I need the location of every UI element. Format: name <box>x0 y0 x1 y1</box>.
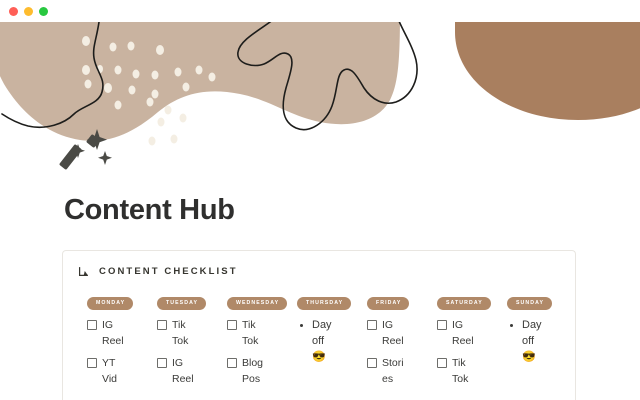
todo-label: YT Vid <box>102 355 125 387</box>
page-cover-image <box>0 22 640 182</box>
todo-label: Tik Tok <box>172 317 195 349</box>
todo-label: IG Reel <box>452 317 475 349</box>
todo-label: IG Reel <box>382 317 405 349</box>
todo-label: IG Reel <box>172 355 195 387</box>
day-badge-monday: MONDAY <box>87 297 133 310</box>
todo-item[interactable]: Tik Tok <box>157 317 195 349</box>
todo-list-saturday: IG Reel Tik Tok <box>437 310 475 387</box>
checkbox-icon[interactable] <box>157 320 167 330</box>
bullet-icon <box>510 324 513 327</box>
day-badge-tuesday: TUESDAY <box>157 297 206 310</box>
todo-item[interactable]: IG Reel <box>367 317 405 349</box>
day-badge-saturday: SATURDAY <box>437 297 491 310</box>
checkbox-icon[interactable] <box>367 358 377 368</box>
arrow-down-right-icon <box>77 265 90 278</box>
checklist-heading: CONTENT CHECKLIST <box>99 266 238 277</box>
bullet-label: Day off 😎 <box>522 317 545 365</box>
checkbox-icon[interactable] <box>367 320 377 330</box>
sparkle-small-right <box>98 151 112 165</box>
checkbox-icon[interactable] <box>157 358 167 368</box>
checklist-header: CONTENT CHECKLIST <box>63 251 575 278</box>
day-column-thursday: THURSDAY Day off 😎 <box>297 291 367 393</box>
todo-label: Blog Pos <box>242 355 265 387</box>
bullet-icon <box>300 324 303 327</box>
day-badge-sunday: SUNDAY <box>507 297 552 310</box>
checkbox-icon[interactable] <box>227 320 237 330</box>
todo-list-wednesday: Tik Tok Blog Pos <box>227 310 265 387</box>
day-column-friday: FRIDAY IG Reel Stories <box>367 291 437 393</box>
todo-item[interactable]: Blog Pos <box>227 355 265 387</box>
bullet-item[interactable]: Day off 😎 <box>507 317 545 365</box>
checkbox-icon[interactable] <box>87 320 97 330</box>
day-column-wednesday: WEDNESDAY Tik Tok Blog Pos <box>227 291 297 393</box>
todo-list-friday: IG Reel Stories <box>367 310 405 387</box>
todo-list-sunday: Day off 😎 <box>507 310 545 365</box>
content-checklist-card: CONTENT CHECKLIST MONDAY IG Reel YT Vid <box>62 250 576 400</box>
bullet-item[interactable]: Day off 😎 <box>297 317 335 365</box>
day-column-saturday: SATURDAY IG Reel Tik Tok <box>437 291 507 393</box>
todo-label: Tik Tok <box>452 355 475 387</box>
checklist-day-columns: MONDAY IG Reel YT Vid TUESDAY <box>63 278 575 393</box>
todo-list-tuesday: Tik Tok IG Reel <box>157 310 195 387</box>
day-column-monday: MONDAY IG Reel YT Vid <box>87 291 157 393</box>
app-window: Content Hub CONTENT CHECKLIST MONDAY IG … <box>0 0 640 400</box>
todo-item[interactable]: YT Vid <box>87 355 125 387</box>
checkbox-icon[interactable] <box>437 320 447 330</box>
day-column-sunday: SUNDAY Day off 😎 <box>507 291 576 393</box>
todo-item[interactable]: IG Reel <box>87 317 125 349</box>
page-body: Content Hub <box>0 182 640 227</box>
close-window-button[interactable] <box>9 7 18 16</box>
todo-list-monday: IG Reel YT Vid <box>87 310 125 387</box>
todo-item[interactable]: Stories <box>367 355 405 387</box>
todo-label: Tik Tok <box>242 317 265 349</box>
day-badge-wednesday: WEDNESDAY <box>227 297 287 310</box>
window-titlebar <box>0 0 640 22</box>
todo-item[interactable]: Tik Tok <box>227 317 265 349</box>
checkbox-icon[interactable] <box>437 358 447 368</box>
todo-label: IG Reel <box>102 317 125 349</box>
day-badge-thursday: THURSDAY <box>297 297 351 310</box>
cover-dark-blob <box>455 22 640 120</box>
todo-item[interactable]: Tik Tok <box>437 355 475 387</box>
day-column-tuesday: TUESDAY Tik Tok IG Reel <box>157 291 227 393</box>
day-badge-friday: FRIDAY <box>367 297 409 310</box>
todo-item[interactable]: IG Reel <box>157 355 195 387</box>
bullet-label: Day off 😎 <box>312 317 335 365</box>
todo-label: Stories <box>382 355 405 387</box>
page-title[interactable]: Content Hub <box>0 182 640 227</box>
checkbox-icon[interactable] <box>87 358 97 368</box>
maximize-window-button[interactable] <box>39 7 48 16</box>
todo-list-thursday: Day off 😎 <box>297 310 335 365</box>
checkbox-icon[interactable] <box>227 358 237 368</box>
todo-item[interactable]: IG Reel <box>437 317 475 349</box>
minimize-window-button[interactable] <box>24 7 33 16</box>
